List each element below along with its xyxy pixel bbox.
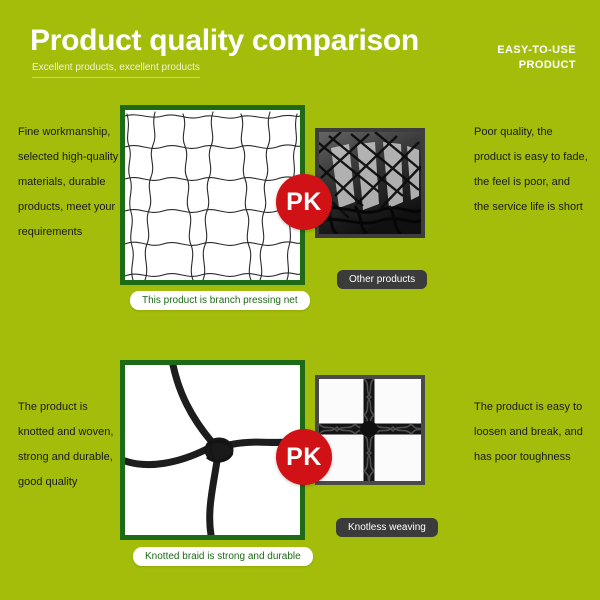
description-left-bottom: The product is knotted and woven, strong… — [18, 395, 122, 495]
square-mesh-net-illustration — [125, 110, 300, 280]
tagline-line-2: PRODUCT — [426, 58, 576, 73]
page-title: Product quality comparison — [30, 24, 419, 58]
description-right-bottom: The product is easy to loosen and break,… — [474, 395, 588, 470]
description-left-top: Fine workmanship, selected high-quality … — [18, 120, 122, 245]
description-right-top: Poor quality, the product is easy to fad… — [474, 120, 588, 220]
worn-netting-photo-illustration — [319, 132, 421, 234]
pk-badge-top: PK — [276, 174, 332, 230]
caption-other-bottom: Knotless weaving — [336, 518, 438, 537]
knotted-cord-illustration — [125, 365, 300, 535]
braided-cross-illustration — [319, 379, 421, 481]
page-header: Product quality comparison Excellent pro… — [0, 0, 600, 95]
comparison-row-bottom: The product is knotted and woven, strong… — [0, 340, 600, 580]
infographic-page: Product quality comparison Excellent pro… — [0, 0, 600, 600]
tagline-line-1: EASY-TO-USE — [426, 43, 576, 58]
product-image-other-bottom[interactable] — [315, 375, 425, 485]
tagline: EASY-TO-USE PRODUCT — [426, 43, 576, 73]
pk-badge-bottom: PK — [276, 429, 332, 485]
page-subtitle: Excellent products, excellent products — [32, 62, 200, 78]
product-image-other-top[interactable] — [315, 128, 425, 238]
caption-main-bottom: Knotted braid is strong and durable — [133, 547, 313, 566]
comparison-row-top: Fine workmanship, selected high-quality … — [0, 95, 600, 325]
caption-other-top: Other products — [337, 270, 427, 289]
caption-main-top: This product is branch pressing net — [130, 291, 310, 310]
